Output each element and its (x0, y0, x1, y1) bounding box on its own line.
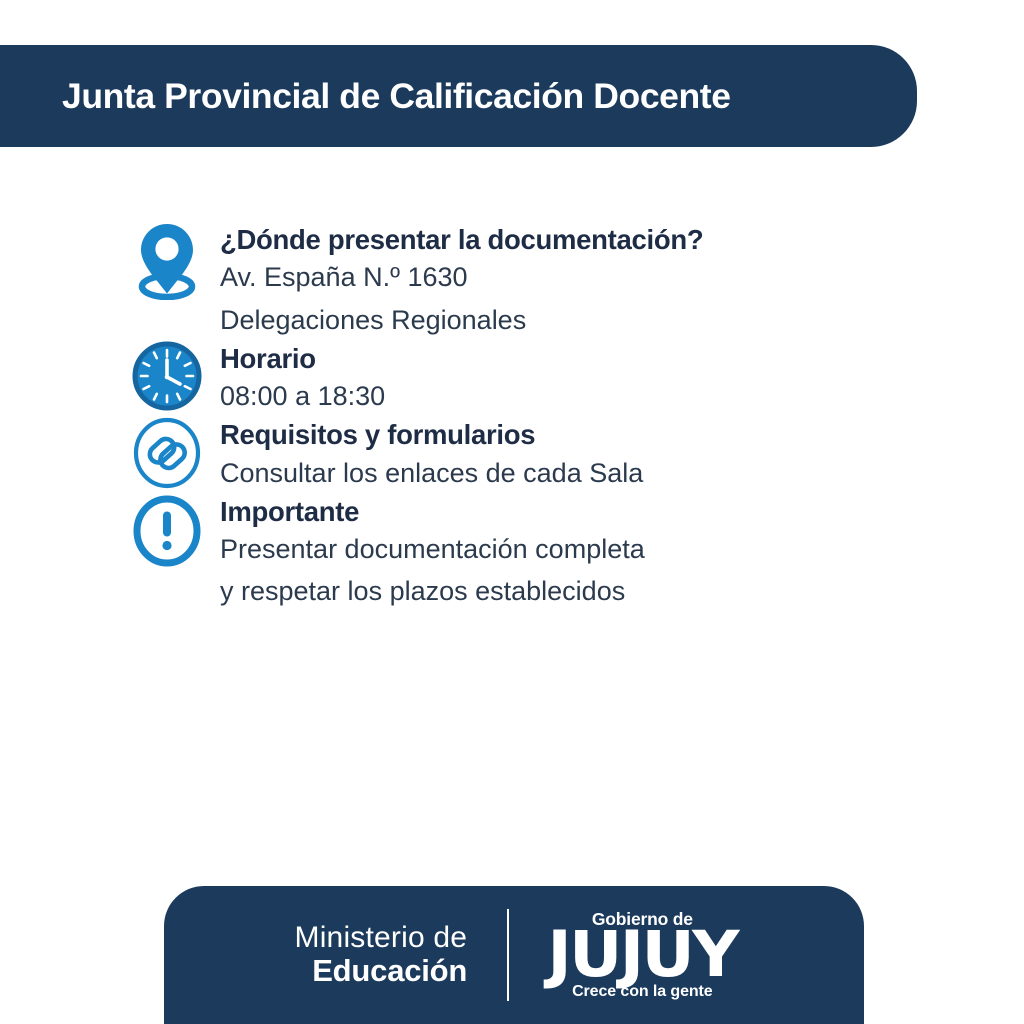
info-block-requirements: Requisitos y formularios Consultar los e… (0, 417, 1024, 494)
info-title: Horario (220, 343, 385, 375)
info-line: Consultar los enlaces de cada Sala (220, 452, 643, 494)
location-pin-icon (128, 222, 206, 300)
info-line: y respetar los plazos establecidos (220, 570, 645, 612)
info-line: Av. España N.º 1630 (220, 256, 703, 298)
info-text-where: ¿Dónde presentar la documentación? Av. E… (206, 222, 703, 341)
info-block-where: ¿Dónde presentar la documentación? Av. E… (0, 222, 1024, 341)
link-chain-icon (128, 417, 206, 489)
ministry-name-line2: Educación (295, 954, 468, 989)
info-title: Requisitos y formularios (220, 419, 643, 451)
clock-icon (128, 341, 206, 411)
info-list: ¿Dónde presentar la documentación? Av. E… (0, 222, 1024, 612)
info-text-requirements: Requisitos y formularios Consultar los e… (206, 417, 643, 494)
info-title: ¿Dónde presentar la documentación? (220, 224, 703, 256)
exclamation-circle-icon (128, 494, 206, 568)
info-block-important: Importante Presentar documentación compl… (0, 494, 1024, 613)
poster-canvas: Junta Provincial de Calificación Docente… (0, 0, 1024, 1024)
info-line: Presentar documentación completa (220, 528, 645, 570)
info-text-hours: Horario 08:00 a 18:30 (206, 341, 385, 418)
ministry-logo: Ministerio de Educación (295, 921, 508, 989)
government-logo: Gobierno de JUJUY Crece con la gente (509, 909, 733, 1001)
info-block-hours: Horario 08:00 a 18:30 (0, 341, 1024, 418)
ministry-name-line1: Ministerio de (295, 921, 468, 955)
government-logo-wordmark: JUJUY (548, 928, 738, 982)
info-title: Importante (220, 496, 645, 528)
info-text-important: Importante Presentar documentación compl… (206, 494, 645, 613)
info-line: Delegaciones Regionales (220, 299, 703, 341)
page-title: Junta Provincial de Calificación Docente (62, 76, 731, 117)
info-line: 08:00 a 18:30 (220, 375, 385, 417)
header-bar: Junta Provincial de Calificación Docente (0, 45, 917, 147)
footer-bar: Ministerio de Educación Gobierno de JUJU… (164, 886, 864, 1024)
